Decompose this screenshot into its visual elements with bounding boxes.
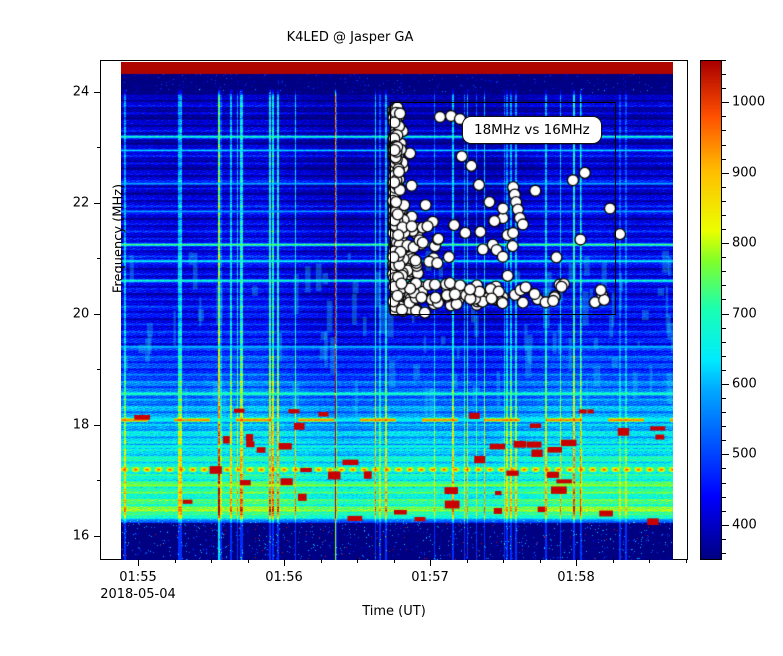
y-axis-tick bbox=[94, 92, 101, 93]
colorbar-minor-tick bbox=[722, 145, 726, 146]
colorbar-minor-tick bbox=[722, 398, 726, 399]
x-axis-minor-tick bbox=[503, 559, 504, 563]
x-axis-minor-tick bbox=[321, 559, 322, 563]
page-title: K4LED @ Jasper GA bbox=[0, 30, 700, 45]
colorbar-tick bbox=[722, 102, 729, 103]
y-axis-tick-label: 20 bbox=[73, 306, 90, 321]
colorbar-tick bbox=[722, 314, 729, 315]
colorbar-tick-label: 900 bbox=[732, 165, 757, 180]
colorbar-minor-tick bbox=[722, 553, 726, 554]
y-axis-tick-label: 18 bbox=[73, 417, 90, 432]
colorbar-minor-tick bbox=[722, 539, 726, 540]
figure-canvas: K4LED @ Jasper GA 18MHz vs 16MHz Frequen… bbox=[0, 0, 783, 656]
x-axis-tick bbox=[138, 559, 139, 566]
colorbar-tick bbox=[722, 243, 729, 244]
x-axis-minor-tick bbox=[613, 559, 614, 563]
colorbar-minor-tick bbox=[722, 74, 726, 75]
colorbar-minor-tick bbox=[722, 468, 726, 469]
x-axis-tick bbox=[430, 559, 431, 566]
colorbar[interactable]: 1000900800700600500400 bbox=[700, 60, 722, 560]
y-axis-minor-tick bbox=[97, 480, 101, 481]
x-axis-minor-tick bbox=[394, 559, 395, 563]
x-axis-tick bbox=[284, 559, 285, 566]
colorbar-tick-label: 500 bbox=[732, 447, 757, 462]
y-axis-minor-tick bbox=[97, 147, 101, 148]
colorbar-minor-tick bbox=[722, 426, 726, 427]
colorbar-minor-tick bbox=[722, 187, 726, 188]
y-axis-minor-tick bbox=[97, 369, 101, 370]
colorbar-tick bbox=[722, 384, 729, 385]
x-axis-tick-label: 01:56 bbox=[265, 570, 302, 585]
y-axis-tick bbox=[94, 425, 101, 426]
colorbar-minor-tick bbox=[722, 285, 726, 286]
y-axis-label: Frequency (MHz) bbox=[112, 159, 127, 319]
x-axis-minor-tick bbox=[357, 559, 358, 563]
x-axis-minor-tick bbox=[248, 559, 249, 563]
y-axis-minor-tick bbox=[97, 258, 101, 259]
colorbar-minor-tick bbox=[722, 511, 726, 512]
colorbar-minor-tick bbox=[722, 497, 726, 498]
colorbar-minor-tick bbox=[722, 201, 726, 202]
colorbar-minor-tick bbox=[722, 159, 726, 160]
colorbar-minor-tick bbox=[722, 299, 726, 300]
colorbar-tick bbox=[722, 173, 729, 174]
colorbar-minor-tick bbox=[722, 412, 726, 413]
colorbar-minor-tick bbox=[722, 328, 726, 329]
x-axis-date: 2018-05-04 bbox=[100, 587, 176, 602]
colorbar-minor-tick bbox=[722, 440, 726, 441]
colorbar-tick-label: 700 bbox=[732, 306, 757, 321]
x-axis-minor-tick bbox=[211, 559, 212, 563]
y-axis-tick bbox=[94, 203, 101, 204]
y-axis-tick bbox=[94, 314, 101, 315]
colorbar-minor-tick bbox=[722, 483, 726, 484]
colorbar-minor-tick bbox=[722, 229, 726, 230]
colorbar-minor-tick bbox=[722, 116, 726, 117]
x-axis-minor-tick bbox=[467, 559, 468, 563]
colorbar-tick bbox=[722, 525, 729, 526]
colorbar-tick-label: 1000 bbox=[732, 95, 765, 110]
colorbar-minor-tick bbox=[722, 215, 726, 216]
x-axis-tick bbox=[576, 559, 577, 566]
x-axis-tick-label: 01:57 bbox=[411, 570, 448, 585]
x-axis-minor-tick bbox=[175, 559, 176, 563]
colorbar-minor-tick bbox=[722, 370, 726, 371]
x-axis-minor-tick bbox=[686, 559, 687, 563]
x-axis-tick-label: 01:58 bbox=[557, 570, 594, 585]
spectrogram-axes[interactable]: 18MHz vs 16MHz Frequency (MHz) 242220181… bbox=[100, 60, 688, 560]
colorbar-minor-tick bbox=[722, 60, 726, 61]
colorbar-tick bbox=[722, 454, 729, 455]
colorbar-minor-tick bbox=[722, 88, 726, 89]
colorbar-tick-label: 800 bbox=[732, 236, 757, 251]
x-axis-label: Time (UT) bbox=[101, 604, 687, 619]
colorbar-minor-tick bbox=[722, 356, 726, 357]
colorbar-tick-label: 400 bbox=[732, 517, 757, 532]
x-axis-minor-tick bbox=[649, 559, 650, 563]
y-axis-tick bbox=[94, 536, 101, 537]
colorbar-tick-label: 600 bbox=[732, 376, 757, 391]
x-axis-minor-tick bbox=[540, 559, 541, 563]
y-axis-tick-label: 24 bbox=[73, 84, 90, 99]
colorbar-gradient bbox=[700, 60, 722, 560]
annotation-label: 18MHz vs 16MHz bbox=[462, 116, 602, 144]
colorbar-minor-tick bbox=[722, 271, 726, 272]
x-axis-tick-label: 01:55 bbox=[119, 570, 156, 585]
colorbar-minor-tick bbox=[722, 257, 726, 258]
y-axis-tick-label: 22 bbox=[73, 195, 90, 210]
y-axis-tick-label: 16 bbox=[73, 529, 90, 544]
colorbar-minor-tick bbox=[722, 342, 726, 343]
colorbar-minor-tick bbox=[722, 130, 726, 131]
